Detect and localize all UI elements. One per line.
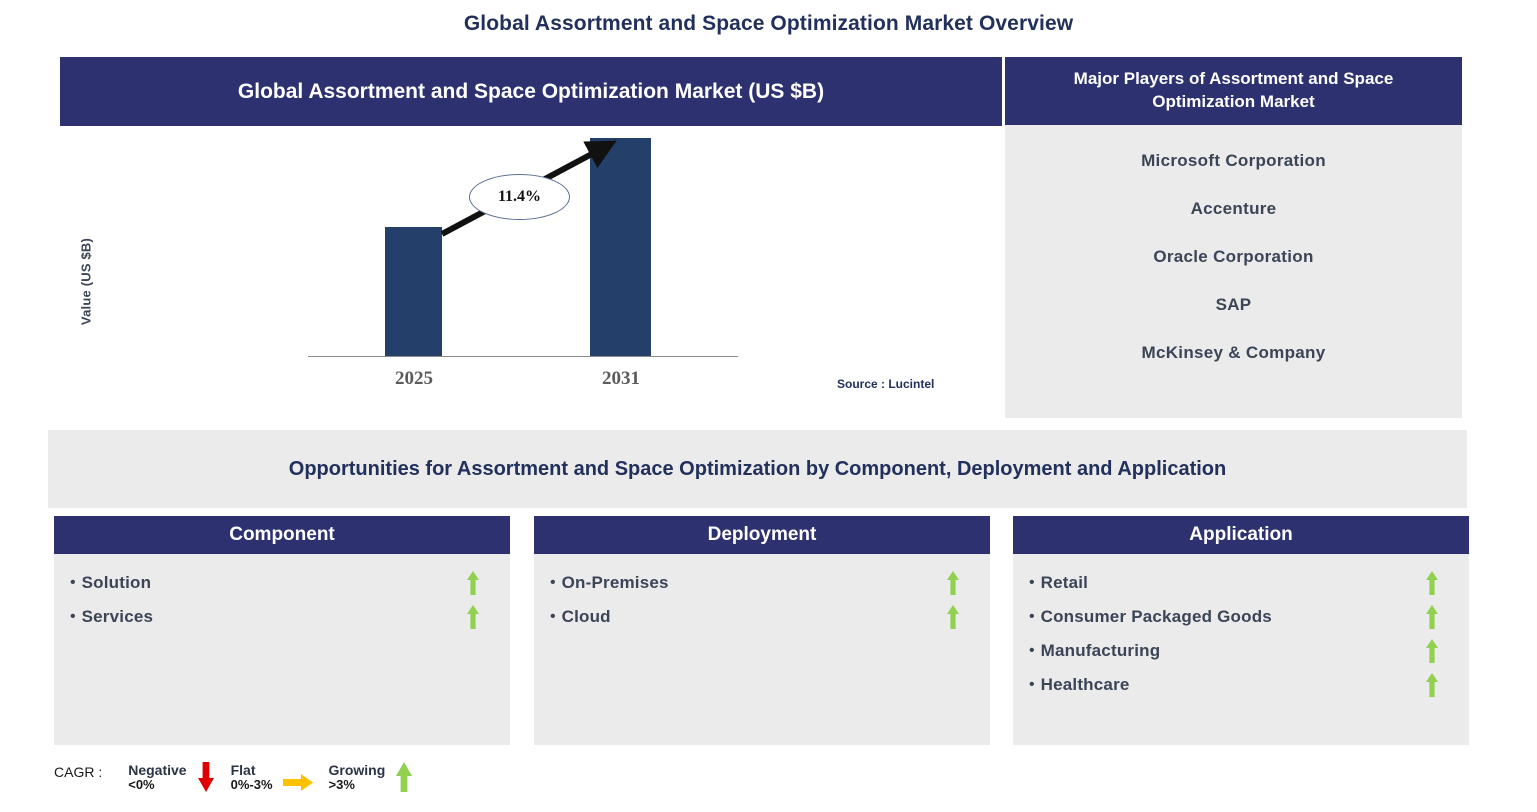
segment-item-label: Solution — [82, 573, 466, 593]
legend-entry-flat: Flat 0%-3% — [231, 762, 315, 798]
bullet-icon: • — [1029, 643, 1035, 659]
segment-header-title: Application — [1189, 524, 1292, 546]
legend-entry-name: Flat — [231, 762, 273, 778]
segment-list-deployment: • On-Premises • Cloud — [534, 554, 990, 634]
cagr-legend-label: CAGR : — [54, 762, 102, 780]
segment-header-component: Component — [54, 516, 510, 554]
legend-entry-negative: Negative <0% — [128, 762, 216, 793]
legend-entry-text: Flat 0%-3% — [231, 762, 273, 793]
arrow-up-icon — [393, 762, 415, 792]
segment-item-label: Healthcare — [1041, 675, 1425, 695]
segment-column-application: Application • Retail • Consumer Packaged… — [1013, 516, 1469, 745]
arrow-down-icon — [195, 762, 217, 792]
arrow-up-icon — [1425, 571, 1439, 595]
bullet-icon: • — [1029, 677, 1035, 693]
segment-item-label: Retail — [1041, 573, 1425, 593]
page-title: Global Assortment and Space Optimization… — [0, 12, 1537, 36]
bullet-icon: • — [70, 609, 76, 625]
cagr-callout: 11.4% — [469, 174, 570, 220]
legend-entry-range: >3% — [329, 778, 386, 793]
segment-item-label: On-Premises — [562, 573, 946, 593]
bullet-icon: • — [1029, 609, 1035, 625]
legend-entry-text: Negative <0% — [128, 762, 186, 793]
list-item: • Manufacturing — [1013, 634, 1469, 668]
x-axis-line — [308, 356, 738, 357]
opportunities-title: Opportunities for Assortment and Space O… — [289, 458, 1226, 481]
chart-source-note: Source : Lucintel — [837, 377, 934, 391]
segment-column-deployment: Deployment • On-Premises • Cloud — [534, 516, 990, 745]
list-item: • Healthcare — [1013, 668, 1469, 702]
segment-list-application: • Retail • Consumer Packaged Goods • Man… — [1013, 554, 1469, 702]
arrow-up-icon — [1425, 605, 1439, 629]
bullet-icon: • — [550, 609, 556, 625]
list-item: Accenture — [1005, 199, 1462, 219]
segment-list-component: • Solution • Services — [54, 554, 510, 634]
major-players-header-line1: Major Players of Assortment and Space — [1074, 69, 1394, 88]
cagr-legend: CAGR : Negative <0% Flat 0%-3% Growing >… — [54, 762, 429, 798]
list-item: • On-Premises — [534, 566, 990, 600]
chart-plot-area: Value (US $B) 11.4% 2025 2031 Source : L… — [60, 126, 1002, 418]
segment-header-application: Application — [1013, 516, 1469, 554]
legend-entry-range: <0% — [128, 778, 186, 793]
cagr-value: 11.4% — [498, 188, 541, 206]
list-item: • Cloud — [534, 600, 990, 634]
x-axis-label-2025: 2025 — [354, 368, 474, 390]
list-item: • Consumer Packaged Goods — [1013, 600, 1469, 634]
bullet-icon: • — [70, 575, 76, 591]
list-item: • Services — [54, 600, 510, 634]
list-item: McKinsey & Company — [1005, 343, 1462, 363]
legend-entry-name: Growing — [329, 762, 386, 778]
major-players-header-line2: Optimization Market — [1152, 92, 1314, 111]
arrow-up-icon — [466, 605, 480, 629]
list-item: Oracle Corporation — [1005, 247, 1462, 267]
bullet-icon: • — [550, 575, 556, 591]
y-axis-title: Value (US $B) — [79, 212, 94, 352]
segment-header-title: Deployment — [708, 524, 817, 546]
major-players-header-title: Major Players of Assortment and Space Op… — [1074, 68, 1394, 114]
arrow-up-icon — [946, 571, 960, 595]
arrow-up-icon — [1425, 639, 1439, 663]
major-players-panel: Major Players of Assortment and Space Op… — [1005, 57, 1462, 418]
opportunities-banner: Opportunities for Assortment and Space O… — [48, 430, 1467, 508]
segment-item-label: Manufacturing — [1041, 641, 1425, 661]
legend-entry-name: Negative — [128, 762, 186, 778]
segment-item-label: Consumer Packaged Goods — [1041, 607, 1425, 627]
list-item: • Retail — [1013, 566, 1469, 600]
segment-header-deployment: Deployment — [534, 516, 990, 554]
major-players-list: Microsoft Corporation Accenture Oracle C… — [1005, 125, 1462, 363]
arrow-up-icon — [946, 605, 960, 629]
chart-panel-header: Global Assortment and Space Optimization… — [60, 57, 1002, 126]
segment-column-component: Component • Solution • Services — [54, 516, 510, 745]
growth-arrow-icon — [60, 126, 1002, 418]
bar-2031 — [590, 138, 651, 356]
segment-item-label: Cloud — [562, 607, 946, 627]
chart-panel-header-title: Global Assortment and Space Optimization… — [238, 80, 824, 104]
bullet-icon: • — [1029, 575, 1035, 591]
arrow-up-icon — [466, 571, 480, 595]
legend-entry-range: 0%-3% — [231, 778, 273, 793]
list-item: • Solution — [54, 566, 510, 600]
list-item: SAP — [1005, 295, 1462, 315]
arrow-up-icon — [1425, 673, 1439, 697]
list-item: Microsoft Corporation — [1005, 151, 1462, 171]
bar-2025 — [385, 227, 442, 356]
major-players-header: Major Players of Assortment and Space Op… — [1005, 57, 1462, 125]
x-axis-label-2031: 2031 — [561, 368, 681, 390]
legend-entry-text: Growing >3% — [329, 762, 386, 793]
segment-header-title: Component — [229, 524, 335, 546]
segment-item-label: Services — [82, 607, 466, 627]
market-chart-panel: Global Assortment and Space Optimization… — [60, 57, 1002, 418]
legend-entry-growing: Growing >3% — [329, 762, 416, 793]
arrow-right-icon — [281, 768, 315, 798]
